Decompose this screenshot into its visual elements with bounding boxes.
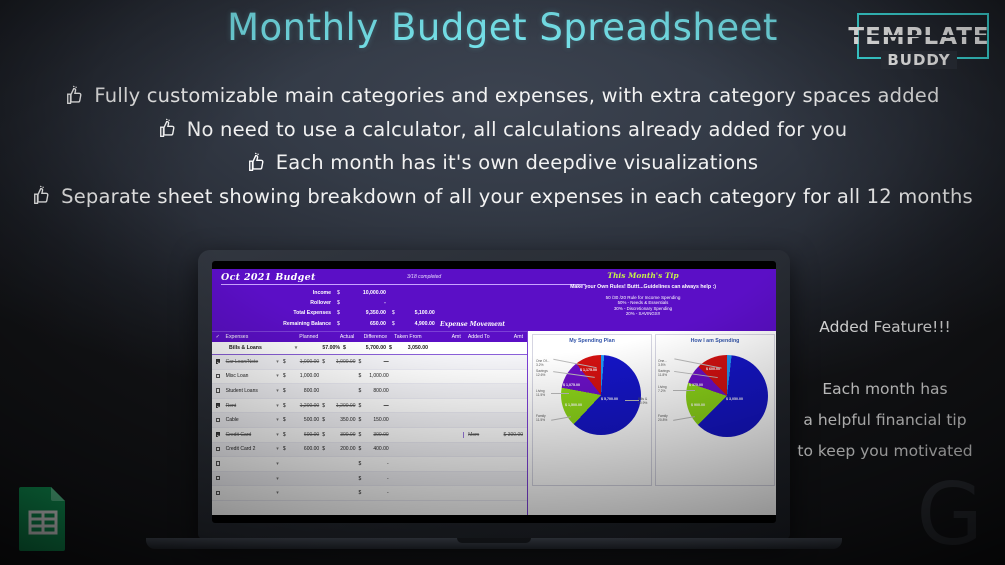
summary-planned: 10,000.00	[343, 288, 389, 298]
row-amt2-value: 300.00	[508, 432, 523, 438]
pie-legend-living: Living11.5%	[536, 389, 545, 397]
column-header-expenses: Expenses	[224, 334, 283, 340]
pie-label-family: $ 1,500.00	[565, 403, 582, 407]
pie-legend-bills: Bills &60.9%	[638, 397, 647, 405]
summary-currency: $	[334, 319, 343, 329]
category-name: Bills & Loans	[227, 345, 289, 351]
feature-bullets: Fully customizable main categories and e…	[0, 84, 1005, 218]
row-dropdown-icon[interactable]: ▾	[272, 388, 283, 394]
pie-legend-one-of: One Of...3.2%	[536, 359, 549, 367]
pie-label-savings: $ 600.00	[706, 367, 720, 371]
table-row[interactable]: Student Loans ▾ $ 800.00 $ 800.00	[212, 384, 527, 399]
bullet-text: No need to use a calculator, all calcula…	[187, 118, 848, 141]
table-row[interactable]: Car Loan/Note ▾ $ 1,000.00 $ 1,000.00 $ …	[212, 355, 527, 370]
row-dropdown-icon[interactable]: ▾	[272, 432, 283, 438]
bullet-item: Each month has it's own deepdive visuali…	[0, 151, 1005, 174]
summary-actual	[398, 288, 438, 298]
table-row[interactable]: Misc Loan ▾ $ 1,000.00 $ 1,000.00	[212, 370, 527, 385]
row-difference: 300.00	[365, 432, 392, 438]
row-expense-name: Credit Card 2	[224, 446, 272, 452]
added-feature-body: Each month has a helpful financial tip t…	[780, 374, 990, 467]
row-actual: 1,200.00	[328, 403, 358, 409]
table-row[interactable]: ▾ $ -	[212, 472, 527, 487]
bullet-item: Fully customizable main categories and e…	[0, 84, 1005, 107]
spreadsheet[interactable]: Oct 2021 Budget 3/18 completed Income $ …	[212, 269, 776, 515]
column-header-amt: Amt	[439, 334, 464, 340]
category-currency2: $	[389, 345, 397, 351]
chart-title: How I am Spending	[656, 338, 774, 344]
bullet-text: Separate sheet showing breakdown of all …	[61, 185, 973, 208]
budget-header: Oct 2021 Budget 3/18 completed Income $ …	[212, 269, 776, 331]
summary-currency: $	[334, 298, 343, 308]
summary-row: Remaining Balance $ 650.00 $ 4,900.00	[272, 319, 438, 329]
charts-panel: My Spending Plan $ 5,700.00 $ 1,500.00 $…	[529, 331, 776, 515]
pie-legend-living: Living7.2%	[658, 385, 667, 393]
chart-title: My Spending Plan	[533, 338, 651, 344]
row-dropdown-icon[interactable]: ▾	[272, 403, 283, 409]
column-header-difference: Difference	[357, 334, 390, 340]
category-currency: $	[343, 345, 351, 351]
row-expense-name: Car Loan/Note	[224, 359, 272, 365]
row-dropdown-icon[interactable]: ▾	[272, 417, 283, 423]
row-planned: 800.00	[291, 388, 323, 394]
laptop-screen: Oct 2021 Budget 3/18 completed Income $ …	[212, 261, 776, 523]
row-currency: $	[283, 359, 291, 365]
pie-how-i-am-spending	[686, 355, 768, 437]
row-expense-name: Student Loans	[224, 388, 272, 394]
row-checkbox[interactable]	[212, 359, 224, 365]
row-checkbox[interactable]	[212, 388, 224, 394]
row-checkbox[interactable]	[212, 461, 224, 467]
row-actual: 1,000.00	[328, 359, 358, 365]
table-row[interactable]: Credit Card 2 ▾ $ 600.00 $ 200.00 $ 400.…	[212, 443, 527, 458]
filter-arrow-icon[interactable]: ▾	[289, 345, 303, 351]
column-header-actual: Actual	[321, 334, 357, 340]
summary-currency2: $	[389, 319, 398, 329]
row-dropdown-icon[interactable]: ▾	[272, 359, 283, 365]
row-checkbox[interactable]	[212, 446, 224, 452]
row-planned: 1,200.00	[291, 403, 323, 409]
row-planned: 1,000.00	[291, 359, 323, 365]
row-expense-name: Cable	[224, 417, 272, 423]
table-row[interactable]: Cable ▾ $ 500.00 $ 350.00 $ 150.00	[212, 413, 527, 428]
chart-my-spending-plan: My Spending Plan $ 5,700.00 $ 1,500.00 $…	[532, 334, 652, 486]
bullet-item: Separate sheet showing breakdown of all …	[0, 185, 1005, 208]
row-checkbox[interactable]	[212, 417, 224, 423]
summary-currency: $	[334, 308, 343, 318]
laptop-lid: Oct 2021 Budget 3/18 completed Income $ …	[198, 250, 790, 539]
row-checkbox[interactable]	[212, 403, 224, 409]
added-feature-line1: Each month has	[780, 374, 990, 405]
added-feature-line3: to keep you motivated	[780, 436, 990, 467]
summary-actual	[398, 298, 438, 308]
table-row[interactable]: Credit Card ▾ $ 600.00 $ 300.00 $ 300.00…	[212, 428, 527, 443]
bullet-text: Fully customizable main categories and e…	[94, 84, 939, 107]
column-header-check: ✓	[212, 334, 224, 340]
pie-legend-family: Family20.8%	[658, 414, 668, 422]
added-feature-heading: Added Feature!!!	[780, 318, 990, 336]
column-header-planned: Planned	[282, 334, 321, 340]
row-currency: $	[283, 373, 291, 379]
row-amt2: $ 300.00	[498, 432, 527, 438]
pie-label-savings: $ 1,175.00	[580, 368, 597, 372]
pie-label-living: $ 1,075.00	[563, 383, 580, 387]
added-feature-line2: a helpful financial tip	[780, 405, 990, 436]
row-dropdown-icon[interactable]: ▾	[272, 476, 283, 482]
summary-actual: 4,900.00	[398, 319, 438, 329]
summary-planned: -	[343, 298, 389, 308]
row-checkbox[interactable]	[212, 432, 224, 438]
row-dropdown-icon[interactable]: ▾	[272, 446, 283, 452]
expense-movement-label: Expense Movement	[440, 321, 505, 328]
expense-table[interactable]: ✓ Expenses Planned Actual Difference Tak…	[212, 331, 528, 515]
table-header-row: ✓ Expenses Planned Actual Difference Tak…	[212, 331, 527, 342]
category-row: Bills & Loans ▾ 57.00% $ 5,700.00 $ 3,05…	[212, 342, 527, 355]
row-actual: 350.00	[328, 417, 358, 423]
table-row[interactable]: ▾ $ -	[212, 486, 527, 501]
summary-actual: 5,100.00	[398, 308, 438, 318]
row-planned: 1,000.00	[291, 373, 323, 379]
budget-summary: Income $ 10,000.00 Rollover $ -	[272, 288, 438, 329]
pie-label-bills: $ 3,050.00	[726, 397, 743, 401]
row-difference: 800.00	[365, 388, 392, 394]
pie-my-spending-plan	[561, 355, 641, 435]
added-feature-panel: Added Feature!!! Each month has a helpfu…	[780, 318, 990, 467]
row-currency: $	[283, 432, 291, 438]
row-difference: 1,000.00	[365, 373, 392, 379]
category-percent: 57.00%	[303, 345, 343, 351]
summary-label: Rollover	[272, 298, 334, 308]
pie-legend-one: One...3.5%	[658, 359, 667, 367]
row-difference: -	[365, 461, 392, 467]
budget-month-title: Oct 2021 Budget	[221, 272, 316, 283]
row-difference: -	[365, 490, 392, 496]
row-currency: $	[283, 417, 291, 423]
pie-legend-savings: Savings11.8%	[658, 369, 670, 377]
row-difference: —	[365, 403, 392, 409]
pie-legend-family: Family11.5%	[536, 414, 546, 422]
summary-label: Total Expenses	[272, 308, 334, 318]
category-planned: 5,700.00	[351, 345, 389, 351]
legend-leader-line	[551, 393, 569, 394]
template-buddy-logo: TEMPLATE BUDDY	[845, 9, 993, 71]
row-checkbox[interactable]	[212, 490, 224, 496]
pie-legend-savings: Savings12.6%	[536, 369, 548, 377]
row-dropdown-icon[interactable]: ▾	[272, 490, 283, 496]
tip-subtitle: Make your Own Rules! Buttt...Guidelines …	[512, 284, 774, 290]
summary-currency2	[389, 298, 398, 308]
summary-label: Remaining Balance	[272, 319, 334, 329]
column-header-amt2: Amt	[498, 334, 527, 340]
tip-title: This Month's Tip	[512, 271, 774, 280]
pie-label-living: $ 375.00	[689, 383, 703, 387]
bullet-item: No need to use a calculator, all calcula…	[0, 118, 1005, 141]
summary-currency2: $	[389, 308, 398, 318]
chart-how-i-am-spending: How I am Spending $ 3,050.00 $ 900.00 $ …	[655, 334, 775, 486]
thumbs-up-icon	[247, 152, 269, 174]
row-difference: 400.00	[365, 446, 392, 452]
row-difference: -	[365, 476, 392, 482]
logo-buddy-text: BUDDY	[845, 51, 993, 69]
row-planned: 600.00	[291, 446, 323, 452]
logo-buddy-label: BUDDY	[881, 51, 956, 69]
laptop-notch	[457, 538, 531, 543]
column-header-added-to: Added To	[464, 334, 499, 340]
summary-planned: 9,350.00	[343, 308, 389, 318]
row-currency: $	[283, 403, 291, 409]
tip-rule-item: 20% - SAVINGS!!	[512, 311, 774, 317]
row-difference: —	[365, 359, 392, 365]
summary-row: Income $ 10,000.00	[272, 288, 438, 298]
legend-leader-line	[673, 390, 695, 391]
summary-row: Rollover $ -	[272, 298, 438, 308]
row-expense-name: Rent	[224, 403, 272, 409]
summary-label: Income	[272, 288, 334, 298]
row-actual: 200.00	[328, 446, 358, 452]
summary-currency: $	[334, 288, 343, 298]
table-row[interactable]: ▾ $ -	[212, 457, 527, 472]
laptop-mockup: Oct 2021 Budget 3/18 completed Income $ …	[198, 250, 790, 550]
thumbs-up-icon	[32, 185, 54, 207]
category-actual: 3,050.00	[397, 345, 431, 351]
row-dropdown-icon[interactable]: ▾	[272, 461, 283, 467]
row-checkbox[interactable]	[212, 373, 224, 379]
summary-currency2	[389, 288, 398, 298]
google-g-watermark: G	[916, 475, 983, 557]
monthly-tip: This Month's Tip Make your Own Rules! Bu…	[512, 271, 774, 317]
row-expense-name: Misc Loan	[224, 373, 272, 379]
row-dropdown-icon[interactable]: ▾	[272, 373, 283, 379]
table-row[interactable]: Rent ▾ $ 1,200.00 $ 1,200.00 $ —	[212, 399, 527, 414]
thumbs-up-icon	[65, 85, 87, 107]
row-currency: $	[283, 446, 291, 452]
google-sheets-icon	[15, 485, 71, 553]
logo-template-text: TEMPLATE	[845, 24, 993, 50]
summary-planned: 650.00	[343, 319, 389, 329]
row-actual: 300.00	[328, 432, 358, 438]
row-expense-name: Credit Card	[224, 432, 272, 438]
row-planned: 600.00	[291, 432, 323, 438]
row-difference: 150.00	[365, 417, 392, 423]
bullet-text: Each month has it's own deepdive visuali…	[276, 151, 759, 174]
row-added-to: Mom	[463, 432, 498, 438]
row-planned: 500.00	[291, 417, 323, 423]
completed-status: 3/18 completed	[407, 274, 441, 280]
summary-row: Total Expenses $ 9,350.00 $ 5,100.00	[272, 308, 438, 318]
column-header-taken-from: Taken From	[390, 334, 438, 340]
thumbs-up-icon	[158, 118, 180, 140]
pie-label-family: $ 900.00	[691, 403, 705, 407]
legend-leader-line	[625, 400, 639, 401]
pie-label-bills: $ 5,700.00	[601, 397, 618, 401]
row-checkbox[interactable]	[212, 476, 224, 482]
row-currency: $	[283, 388, 291, 394]
